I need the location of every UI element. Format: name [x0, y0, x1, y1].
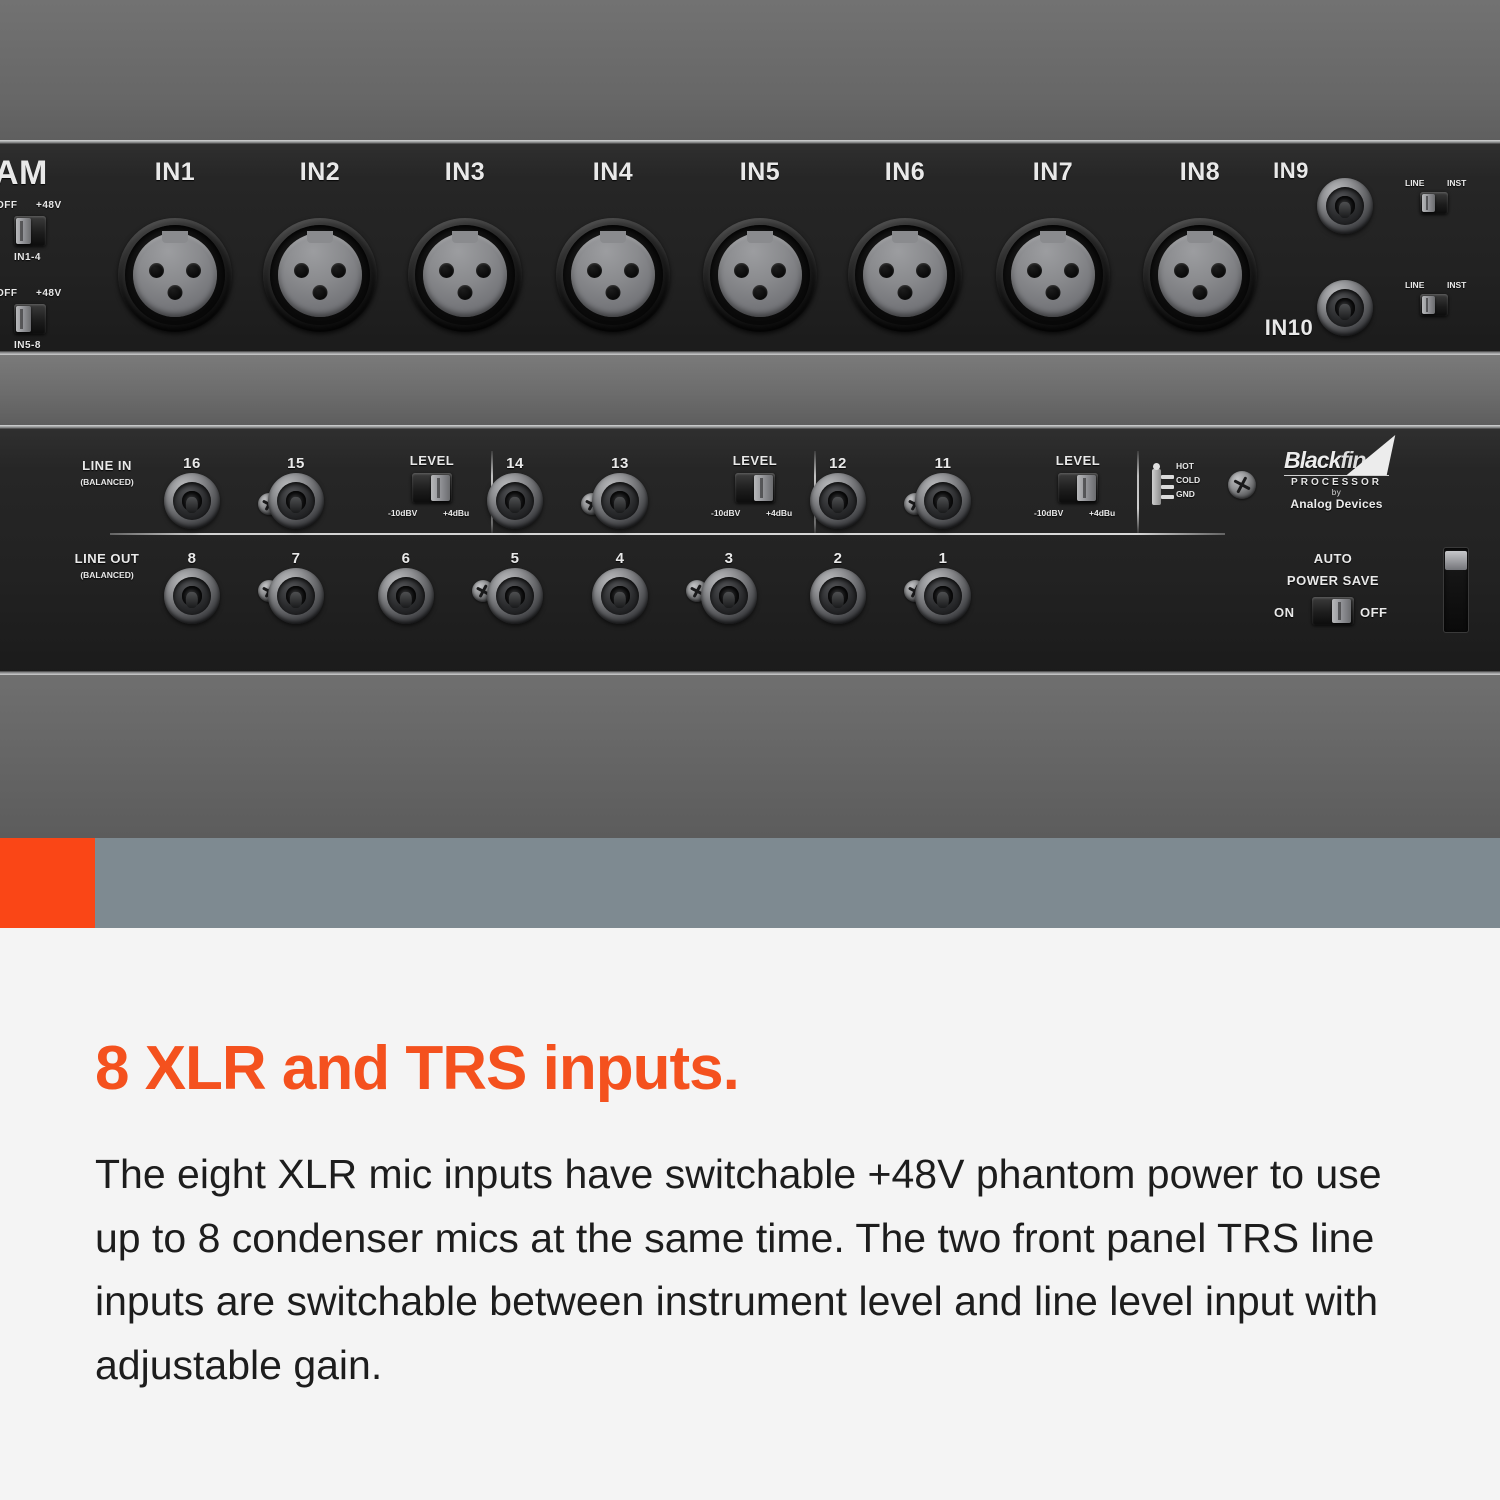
trs-jack-in10[interactable]: [1317, 280, 1373, 336]
rear-panel-bottom: LINE IN (BALANCED) LINE OUT (BALANCED) 1…: [0, 425, 1500, 675]
level-switch-2[interactable]: [735, 473, 775, 503]
feature-copy-block: 8 XLR and TRS inputs. The eight XLR mic …: [0, 928, 1500, 1500]
auto-power-save-switch[interactable]: [1312, 597, 1354, 625]
line-out-num-6: 6: [402, 550, 411, 567]
line-in-sub-label: (BALANCED): [80, 477, 133, 487]
xlr-label-in3: IN3: [445, 158, 485, 187]
line-in-num-12: 12: [829, 455, 847, 472]
xlr-connector-in8[interactable]: [1143, 218, 1257, 332]
phantom-2-off-label: OFF: [0, 288, 18, 299]
line-in-jack-14[interactable]: [487, 473, 543, 529]
line-in-jack-16[interactable]: [164, 473, 220, 529]
blackfin-logo-word: Black: [1284, 447, 1340, 473]
product-photo: AM OFF +48V IN1-4 OFF +48V IN5-8 IN1 IN2: [0, 0, 1500, 838]
level-label-3: LEVEL: [1056, 453, 1100, 468]
level-switch-3[interactable]: [1058, 473, 1098, 503]
line-out-num-4: 4: [616, 550, 625, 567]
blackfin-processor-label: PROCESSOR: [1284, 477, 1389, 488]
blackfin-by-label: by: [1284, 488, 1389, 497]
rear-panel-top: AM OFF +48V IN1-4 OFF +48V IN5-8 IN1 IN2: [0, 140, 1500, 355]
in9-line-label: LINE: [1405, 178, 1424, 188]
auto-power-save-line2: POWER SAVE: [1287, 573, 1379, 588]
xlr-connector-in1[interactable]: [118, 218, 232, 332]
line-in-num-14: 14: [506, 455, 524, 472]
phantom-2-group-label: IN5-8: [14, 340, 41, 351]
xlr-connector-in3[interactable]: [408, 218, 522, 332]
phantom-switch-in1-4[interactable]: [14, 216, 46, 246]
line-out-num-5: 5: [511, 550, 520, 567]
xlr-label-in4: IN4: [593, 158, 633, 187]
in9-line-inst-switch[interactable]: [1420, 192, 1448, 214]
trs-label-in9: IN9: [1273, 158, 1309, 184]
auto-power-save-line1: AUTO: [1314, 551, 1353, 566]
line-out-jack-2[interactable]: [810, 568, 866, 624]
trs-jack-in9[interactable]: [1317, 178, 1373, 234]
xlr-connector-in7[interactable]: [996, 218, 1110, 332]
xlr-label-in7: IN7: [1033, 158, 1073, 187]
level-3-left-label: -10dBV: [1034, 508, 1063, 518]
level-label-1: LEVEL: [410, 453, 454, 468]
line-in-jack-12[interactable]: [810, 473, 866, 529]
level-2-right-label: +4dBu: [766, 508, 792, 518]
line-out-jack-5[interactable]: [487, 568, 543, 624]
blackfin-logo: Blackfin PROCESSOR by Analog Devices: [1284, 447, 1389, 511]
pinout-hot-label: HOT: [1176, 461, 1194, 471]
level-switch-1[interactable]: [412, 473, 452, 503]
level-3-right-label: +4dBu: [1089, 508, 1115, 518]
feature-heading: 8 XLR and TRS inputs.: [95, 1038, 739, 1100]
line-out-label: LINE OUT: [75, 551, 140, 566]
chassis-lower-band: [0, 675, 1500, 838]
line-out-num-2: 2: [834, 550, 843, 567]
analog-devices-label: Analog Devices: [1284, 497, 1389, 511]
xlr-label-in1: IN1: [155, 158, 195, 187]
pinout-cold-label: COLD: [1176, 475, 1200, 485]
level-label-2: LEVEL: [733, 453, 777, 468]
line-out-jack-8[interactable]: [164, 568, 220, 624]
in10-line-label: LINE: [1405, 280, 1424, 290]
trs-label-in10: IN10: [1265, 315, 1313, 341]
phantom-1-48v-label: +48V: [36, 200, 62, 211]
phantom-switch-in5-8[interactable]: [14, 304, 46, 334]
line-in-num-16: 16: [183, 455, 201, 472]
level-1-left-label: -10dBV: [388, 508, 417, 518]
xlr-label-in6: IN6: [885, 158, 925, 187]
power-save-off-label: OFF: [1360, 605, 1388, 620]
accent-orange-block: [0, 838, 95, 928]
level-2-left-label: -10dBV: [711, 508, 740, 518]
xlr-label-in5: IN5: [740, 158, 780, 187]
pinout-gnd-label: GND: [1176, 489, 1195, 499]
panel-screw: [1228, 471, 1256, 499]
xlr-connector-in6[interactable]: [848, 218, 962, 332]
line-in-num-13: 13: [611, 455, 629, 472]
line-out-jack-3[interactable]: [701, 568, 757, 624]
level-1-right-label: +4dBu: [443, 508, 469, 518]
line-out-num-7: 7: [292, 550, 301, 567]
line-out-jack-1[interactable]: [915, 568, 971, 624]
phantom-1-off-label: OFF: [0, 200, 18, 211]
xlr-connector-in2[interactable]: [263, 218, 377, 332]
line-out-jack-6[interactable]: [378, 568, 434, 624]
brand-partial-label: AM: [0, 154, 48, 193]
line-in-label: LINE IN: [82, 458, 132, 473]
line-in-num-15: 15: [287, 455, 305, 472]
in10-line-inst-switch[interactable]: [1420, 294, 1448, 316]
section-divider-3: [1137, 451, 1139, 533]
line-in-num-11: 11: [935, 455, 952, 472]
xlr-connector-in4[interactable]: [556, 218, 670, 332]
power-save-on-label: ON: [1274, 605, 1295, 620]
feature-body-text: The eight XLR mic inputs have switchable…: [95, 1143, 1405, 1397]
xlr-label-in8: IN8: [1180, 158, 1220, 187]
line-in-jack-15[interactable]: [268, 473, 324, 529]
product-feature-page: AM OFF +48V IN1-4 OFF +48V IN5-8 IN1 IN2: [0, 0, 1500, 1500]
phantom-1-group-label: IN1-4: [14, 252, 41, 263]
line-in-jack-13[interactable]: [592, 473, 648, 529]
line-in-jack-11[interactable]: [915, 473, 971, 529]
panel-slot-connector[interactable]: [1443, 547, 1469, 633]
fin-icon: [1347, 435, 1396, 475]
accent-banner: [0, 838, 1500, 928]
photo-background: [0, 0, 1500, 140]
row-separator-line: [110, 533, 1225, 535]
phantom-2-48v-label: +48V: [36, 288, 62, 299]
line-out-num-1: 1: [939, 550, 948, 567]
line-out-jack-7[interactable]: [268, 568, 324, 624]
in10-inst-label: INST: [1447, 280, 1466, 290]
xlr-connector-in5[interactable]: [703, 218, 817, 332]
in9-inst-label: INST: [1447, 178, 1466, 188]
xlr-label-in2: IN2: [300, 158, 340, 187]
line-out-sub-label: (BALANCED): [80, 570, 133, 580]
line-out-num-3: 3: [725, 550, 734, 567]
line-out-num-8: 8: [188, 550, 197, 567]
chassis-gap-band: [0, 355, 1500, 425]
line-out-jack-4[interactable]: [592, 568, 648, 624]
